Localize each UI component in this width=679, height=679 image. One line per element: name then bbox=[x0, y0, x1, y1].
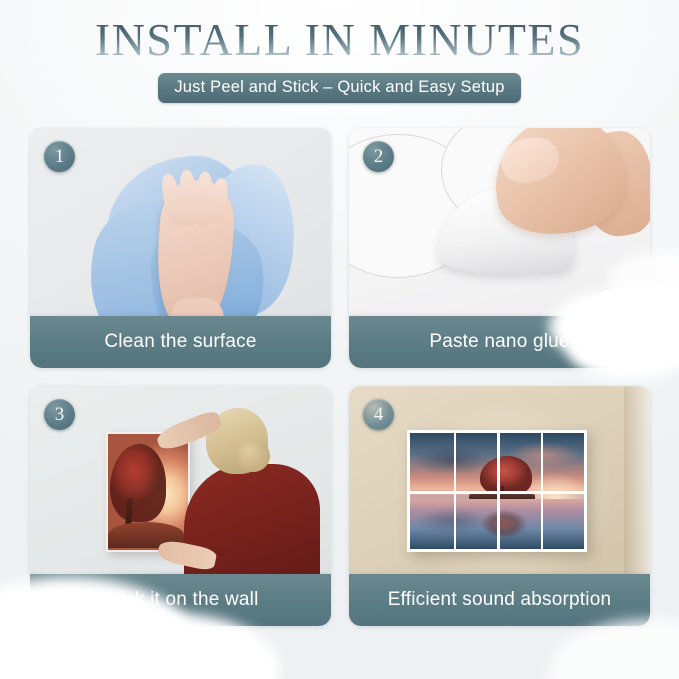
subtitle-banner: Just Peel and Stick – Quick and Easy Set… bbox=[158, 73, 520, 103]
promo-page: INSTALL IN MINUTES Just Peel and Stick –… bbox=[0, 0, 679, 679]
step-number-badge-2: 2 bbox=[363, 141, 394, 172]
step-card-1[interactable]: 1 Clean the surface bbox=[30, 128, 331, 368]
subtitle-row: Just Peel and Stick – Quick and Easy Set… bbox=[0, 73, 679, 103]
page-title: INSTALL IN MINUTES bbox=[0, 16, 679, 64]
wall-art-image bbox=[410, 433, 584, 549]
step-card-4[interactable]: 4 Efficient sound absorption bbox=[349, 386, 650, 626]
step-number-badge-1: 1 bbox=[44, 141, 75, 172]
header: INSTALL IN MINUTES Just Peel and Stick –… bbox=[0, 16, 679, 103]
woman-hair-bun bbox=[236, 440, 270, 472]
step-number-badge-4: 4 bbox=[363, 399, 394, 430]
art-tree-canopy bbox=[480, 456, 532, 495]
panel-tree bbox=[110, 444, 166, 522]
step-caption-1: Clean the surface bbox=[30, 316, 331, 368]
step-number-badge-3: 3 bbox=[44, 399, 75, 430]
step-card-2[interactable]: 2 Paste nano glue bbox=[349, 128, 650, 368]
art-cloud-left bbox=[413, 445, 490, 475]
step-card-3[interactable]: 3 Stick it on the wall bbox=[30, 386, 331, 626]
step-caption-2: Paste nano glue bbox=[349, 316, 650, 368]
panel-seam-h1 bbox=[410, 491, 584, 494]
wall-art-8-panel bbox=[407, 430, 587, 552]
art-cloud-reflection bbox=[415, 507, 488, 535]
steps-grid: 1 Clean the surface 2 Paste nano glue bbox=[30, 128, 649, 626]
step-caption-4: Efficient sound absorption bbox=[349, 574, 650, 626]
step-caption-3: Stick it on the wall bbox=[30, 574, 331, 626]
